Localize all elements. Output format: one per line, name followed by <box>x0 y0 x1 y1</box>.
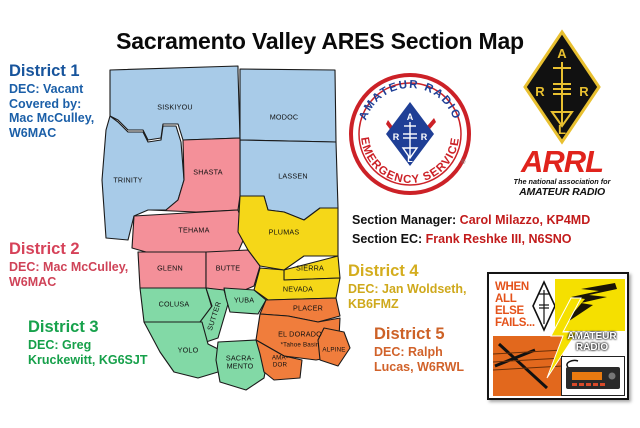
district-2-heading: District 2 <box>9 240 128 259</box>
arrl-diamond-letter-r1: R <box>535 84 545 99</box>
section-officers: Section Manager: Carol Milazzo, KP4MD Se… <box>352 211 590 249</box>
county-label-alpine: ALPINE <box>322 347 345 354</box>
county-label-glenn: GLENN <box>157 264 183 273</box>
district-5-heading: District 5 <box>374 325 464 344</box>
arrl-tagline-line-1: The national association for <box>493 177 631 186</box>
county-label-amador: AMA-DOR <box>272 356 288 369</box>
waef-caption: AMATEUR RADIO <box>555 332 629 353</box>
district-4-label: District 4 DEC: Jan Woldseth, KB6FMZ <box>348 262 467 311</box>
section-ec-value: Frank Reshke III, N6SNO <box>426 232 572 246</box>
ares-diamond-letter-r2: R <box>421 132 428 142</box>
arrl-wordmark: ARRL <box>493 146 631 177</box>
radio-transceiver-icon <box>562 357 624 395</box>
county-label-yuba: YUBA <box>234 296 254 305</box>
arrl-diamond-svg: A R R L <box>493 28 631 146</box>
district-2-line-2: W6MAC <box>9 275 128 290</box>
district-1-line-2: Covered by: <box>9 97 94 112</box>
arrl-tagline-line-2: AMATEUR RADIO <box>493 186 631 198</box>
district-2-line-1: DEC: Mac McCulley, <box>9 260 128 275</box>
district-1-line-4: W6MAC <box>9 126 94 141</box>
county-label-modoc: MODOC <box>270 113 299 122</box>
county-label-tehama: TEHAMA <box>178 226 209 235</box>
county-label-yolo: YOLO <box>178 346 199 355</box>
ares-logo-svg: AMATEUR RADIO EMERGENCY SERVICE A R R L … <box>348 72 472 196</box>
district-1-line-1: DEC: Vacant <box>9 82 94 97</box>
county-label-siskiyou: SISKIYOU <box>157 103 193 112</box>
district-5-label: District 5 DEC: Ralph Lucas, W6RWL <box>374 325 464 374</box>
arrl-diamond-letter-r2: R <box>579 84 589 99</box>
district-3-heading: District 3 <box>28 318 147 337</box>
district-4-line-1: DEC: Jan Woldseth, <box>348 282 467 297</box>
arrl-diamond-letter-a: A <box>557 46 567 61</box>
district-1-label: District 1 DEC: Vacant Covered by: Mac M… <box>9 62 94 140</box>
county-label-plumas: PLUMAS <box>269 228 300 237</box>
ares-diamond-letter-a: A <box>407 112 414 122</box>
when-all-else-fails-poster[interactable]: WHEN ALL ELSE FAILS... <box>487 272 629 400</box>
waef-inner: WHEN ALL ELSE FAILS... <box>489 274 627 398</box>
radio-transceiver-panel <box>561 356 625 396</box>
district-3-line-1: DEC: Greg <box>28 338 147 353</box>
county-label-lassen: LASSEN <box>278 172 308 181</box>
county-label-placer: PLACER <box>293 304 323 313</box>
section-manager-label: Section Manager: <box>352 213 456 227</box>
county-label-trinity: TRINITY <box>113 176 142 185</box>
ares-diamond-letter-r1: R <box>393 132 400 142</box>
waef-caption-line-1: AMATEUR <box>555 332 629 343</box>
county-label-nevada: NEVADA <box>283 285 313 294</box>
county-label-colusa: COLUSA <box>159 300 190 309</box>
district-4-line-2: KB6FMZ <box>348 297 467 312</box>
district-3-line-2: Kruckewitt, KG6SJT <box>28 353 147 368</box>
waef-caption-line-2: RADIO <box>555 343 629 354</box>
section-ec-row: Section EC: Frank Reshke III, N6SNO <box>352 230 590 249</box>
section-manager-row: Section Manager: Carol Milazzo, KP4MD <box>352 211 590 230</box>
section-manager-value: Carol Milazzo, KP4MD <box>460 213 591 227</box>
map-annotation-tahoe-basin: *Tahoe Basin <box>281 342 320 349</box>
district-1-heading: District 1 <box>9 62 94 81</box>
section-ec-label: Section EC: <box>352 232 422 246</box>
county-label-el-dorado: EL DORADO <box>278 330 322 339</box>
district-4-heading: District 4 <box>348 262 467 281</box>
district-2-label: District 2 DEC: Mac McCulley, W6MAC <box>9 240 128 289</box>
county-label-sierra: SIERRA <box>296 264 324 273</box>
ares-logo[interactable]: AMATEUR RADIO EMERGENCY SERVICE A R R L … <box>348 72 472 196</box>
district-3-label: District 3 DEC: Greg Kruckewitt, KG6SJT <box>28 318 147 367</box>
district-5-line-1: DEC: Ralph <box>374 345 464 360</box>
county-modoc <box>240 69 336 142</box>
district-1-line-3: Mac McCulley, <box>9 111 94 126</box>
arrl-logo[interactable]: A R R L ARRL The national association fo… <box>493 28 631 203</box>
county-label-shasta: SHASTA <box>193 168 222 177</box>
district-5-line-2: Lucas, W6RWL <box>374 360 464 375</box>
county-label-butte: BUTTE <box>216 264 241 273</box>
registered-mark: ® <box>461 159 466 166</box>
county-label-sacramento: SACRA-MENTO <box>226 354 254 369</box>
section-map-poster: Sacramento Valley ARES Section Map <box>0 0 640 428</box>
